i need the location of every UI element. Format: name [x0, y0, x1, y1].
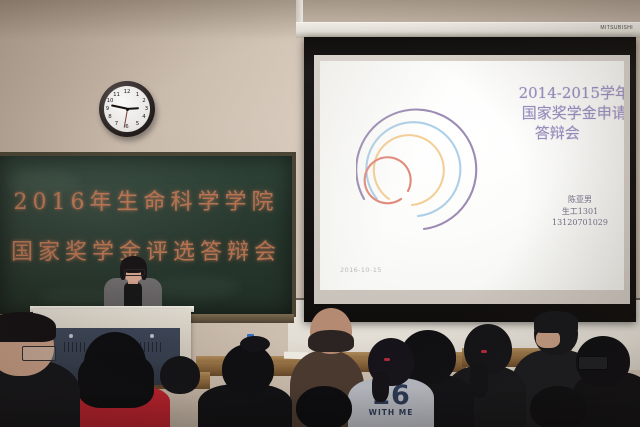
jersey-slogan-text: WITH ME [356, 409, 426, 417]
projector-screen-housing: MITSUBISHI [296, 22, 640, 38]
jersey-number: 16 WITH ME [356, 382, 426, 417]
screen-mount-bracket [296, 0, 303, 24]
lecture-hall-photo: 12 1 2 3 4 5 6 7 8 9 10 11 2016年生 [0, 0, 640, 427]
clock-numeral-3: 3 [145, 106, 148, 112]
audience-right-ponytail-head [464, 324, 512, 374]
lectern-vent [64, 342, 86, 352]
concentric-arcs-logo [356, 95, 492, 235]
slide-presenter-info: 陈亚男 生工1301 13120701029 [552, 194, 608, 229]
lectern-knob [69, 334, 73, 338]
slide-title-line-1: 2014-2015学年 [519, 83, 624, 103]
blackboard-heading-line-1: 2016年生命科学学院 [0, 184, 292, 216]
audience-right-man-hair [534, 311, 578, 333]
clock-numeral-11: 11 [113, 92, 120, 98]
slide-title: 2014-2015学年 国家奖学金申请 答辩会 [519, 83, 624, 143]
housing-brand-logo: MITSUBISHI [600, 25, 633, 31]
audience-front-left-hair [0, 312, 56, 342]
audience-center-ponytail-head [222, 344, 274, 394]
clock-numeral-2: 2 [142, 98, 145, 104]
clock-numeral-4: 4 [142, 114, 145, 120]
slide-presenter-name: 陈亚男 [552, 194, 608, 206]
presenter-glasses [124, 269, 145, 276]
clock-numeral-7: 7 [115, 121, 118, 127]
audience-red-coat-hair [78, 352, 154, 408]
clock-numeral-9: 9 [106, 106, 109, 112]
clock-numeral-12: 12 [124, 89, 131, 95]
hair-tie [481, 350, 487, 353]
audience-small-head [160, 356, 200, 394]
audience-far-right-glasses [578, 356, 608, 370]
clock-center-pin [126, 108, 129, 111]
jersey-number-text: 16 [356, 382, 426, 409]
clock-numeral-5: 5 [136, 121, 139, 127]
slide-title-line-3: 答辩会 [519, 123, 624, 143]
clock-numeral-10: 10 [107, 98, 114, 104]
audience-small-head [296, 386, 352, 427]
hair-tie [384, 358, 390, 361]
slide-presenter-id: 13120701029 [552, 217, 608, 229]
audience-front-left-glasses [22, 346, 56, 361]
student-presenter [104, 258, 162, 312]
clock-numeral-6: 6 [125, 124, 128, 130]
lectern-knob [150, 334, 154, 338]
clock-face: 12 1 2 3 4 5 6 7 8 9 10 11 [104, 86, 150, 132]
slide-title-line-2: 国家奖学金申请 [519, 103, 624, 123]
wall-clock: 12 1 2 3 4 5 6 7 8 9 10 11 [99, 81, 155, 137]
audience-small-head [530, 386, 586, 427]
audience-jersey-girl-ponytail [372, 372, 389, 402]
chalk-smudge [150, 276, 240, 298]
projected-slide: 2014-2015学年 国家奖学金申请 答辩会 陈亚男 生工1301 13120… [320, 61, 624, 290]
clock-numeral-1: 1 [136, 92, 139, 98]
audience-center-ponytail-bun [240, 336, 270, 352]
slide-presenter-class: 生工1301 [552, 206, 608, 218]
slide-date: 2016-10-15 [340, 266, 382, 274]
clock-numeral-8: 8 [108, 114, 111, 120]
audience-bald-man-hair [308, 330, 354, 352]
